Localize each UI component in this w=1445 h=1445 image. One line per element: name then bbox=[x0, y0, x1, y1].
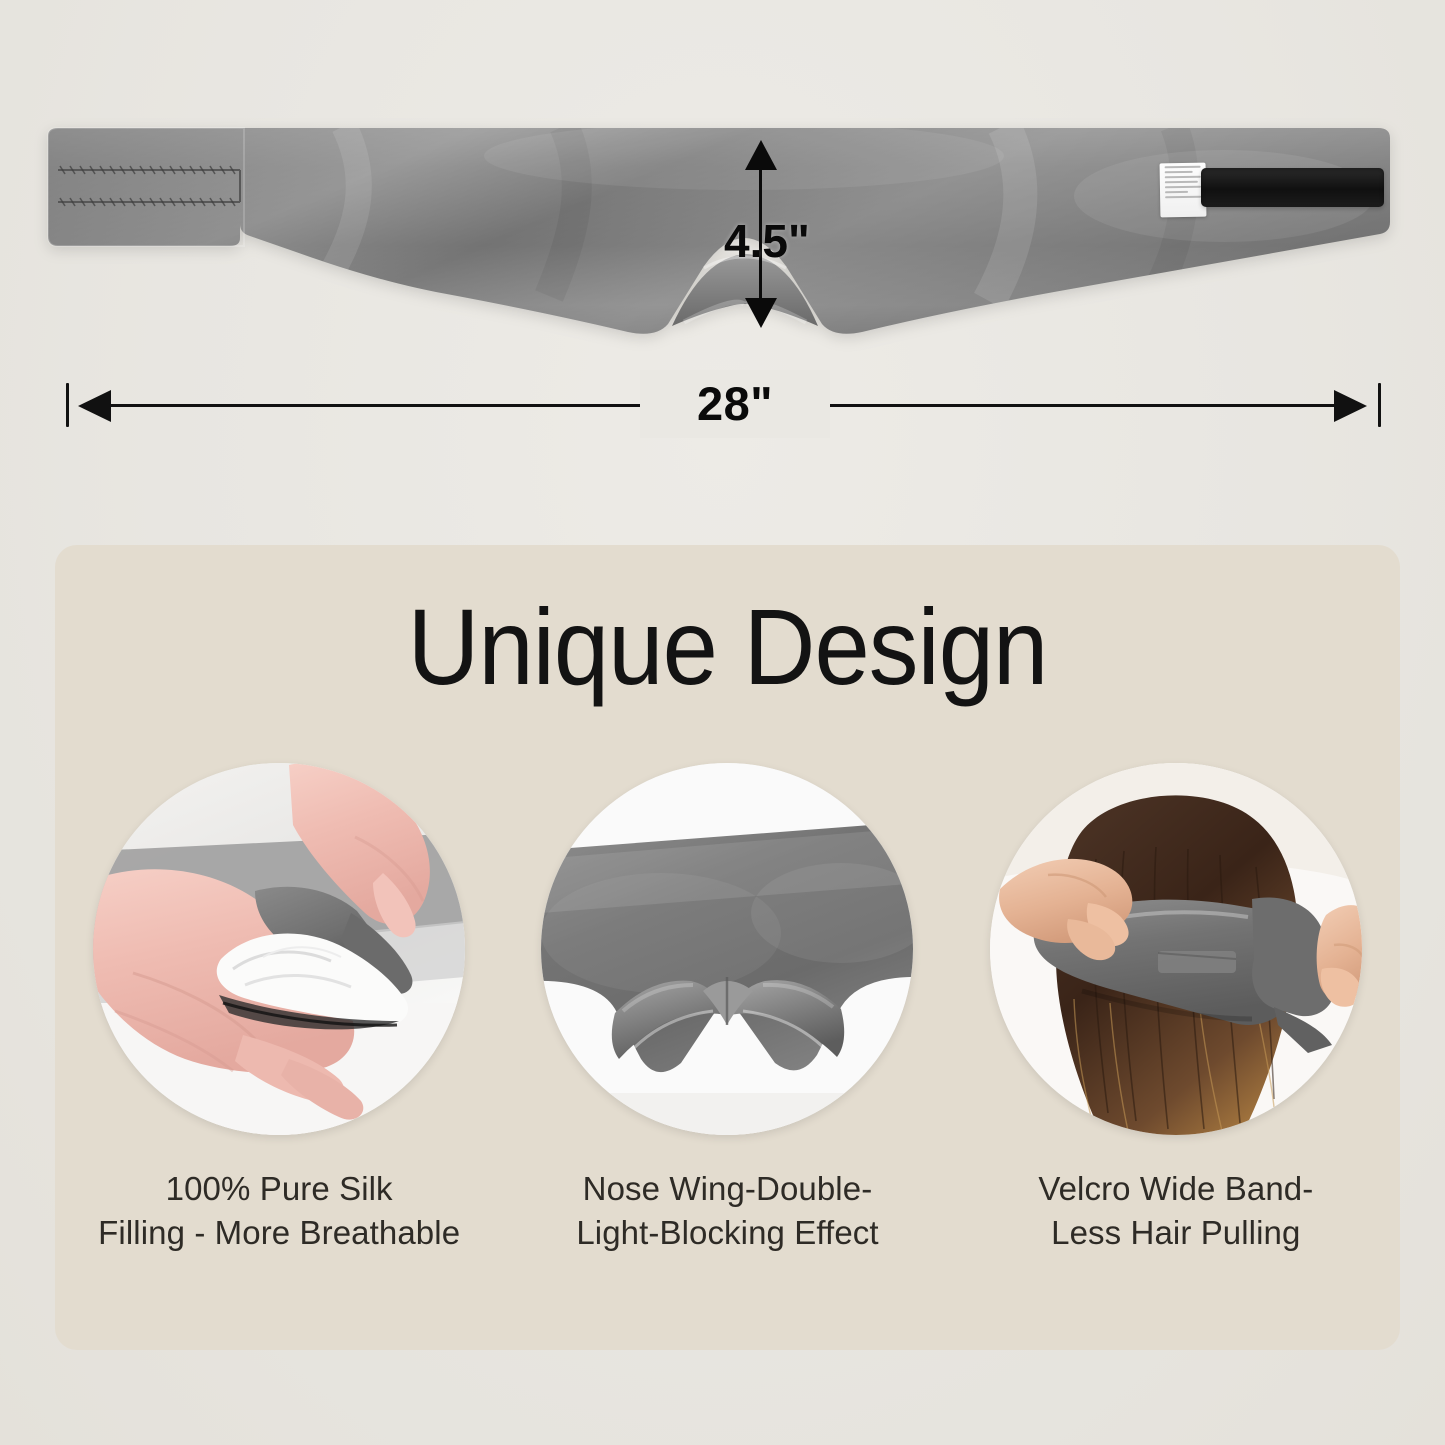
feature-item-silk-filling: 100% Pure Silk Filling - More Breathable bbox=[69, 763, 489, 1255]
care-label bbox=[1160, 163, 1207, 218]
caption-line-2: Filling - More Breathable bbox=[98, 1211, 460, 1255]
velcro-strap bbox=[1201, 168, 1384, 207]
dimension-tick-left bbox=[66, 383, 69, 427]
feature-item-velcro-band: Velcro Wide Band- Less Hair Pulling bbox=[966, 763, 1386, 1255]
caption-line-1: Velcro Wide Band- bbox=[1038, 1167, 1313, 1211]
height-dimension-label: 4.5" bbox=[724, 214, 810, 268]
unique-design-panel: Unique Design bbox=[55, 545, 1400, 1350]
infographic-root: 4.5" 28" Unique Design bbox=[0, 0, 1445, 1445]
feature-item-nose-wing: Nose Wing-Double- Light-Blocking Effect bbox=[517, 763, 937, 1255]
arrow-left-icon bbox=[78, 390, 111, 422]
feature-list: 100% Pure Silk Filling - More Breathable bbox=[55, 763, 1400, 1323]
arrow-up-icon bbox=[745, 140, 777, 170]
caption-line-2: Less Hair Pulling bbox=[1038, 1211, 1313, 1255]
feature-caption-silk-filling: 100% Pure Silk Filling - More Breathable bbox=[98, 1167, 460, 1255]
caption-line-2: Light-Blocking Effect bbox=[576, 1211, 878, 1255]
product-dimension-section: 4.5" 28" bbox=[0, 0, 1445, 520]
woman-fastening-velcro-band-photo bbox=[990, 763, 1362, 1135]
arrow-down-icon bbox=[745, 298, 777, 328]
arrow-right-icon bbox=[1334, 390, 1367, 422]
caption-line-1: Nose Wing-Double- bbox=[576, 1167, 878, 1211]
product-image: 4.5" bbox=[0, 0, 1445, 380]
feature-caption-nose-wing: Nose Wing-Double- Light-Blocking Effect bbox=[576, 1167, 878, 1255]
width-dimension-arrow: 28" bbox=[0, 370, 1445, 440]
nose-wing-closeup-photo bbox=[541, 763, 913, 1135]
feature-caption-velcro-band: Velcro Wide Band- Less Hair Pulling bbox=[1038, 1167, 1313, 1255]
feature-image-nose-wing bbox=[541, 763, 913, 1135]
dimension-tick-right bbox=[1378, 383, 1381, 427]
feature-image-silk-filling bbox=[93, 763, 465, 1135]
caption-line-1: 100% Pure Silk bbox=[98, 1167, 460, 1211]
panel-title: Unique Design bbox=[109, 593, 1346, 701]
sleep-mask-illustration bbox=[44, 126, 1392, 356]
width-dimension-label: 28" bbox=[640, 370, 830, 438]
hands-holding-silk-filling-photo bbox=[93, 763, 465, 1135]
feature-image-velcro-band bbox=[990, 763, 1362, 1135]
